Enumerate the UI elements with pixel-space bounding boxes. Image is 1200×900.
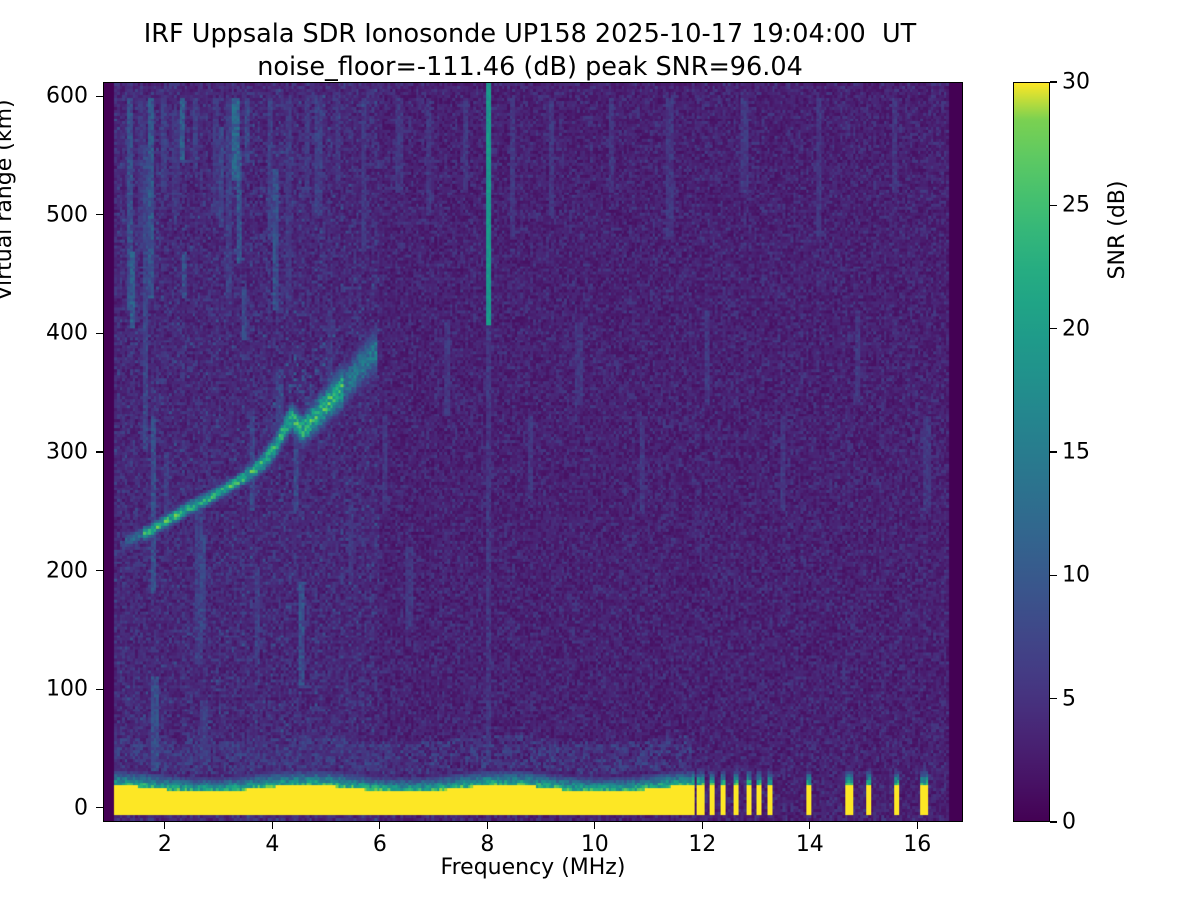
ionogram-figure: IRF Uppsala SDR Ionosonde UP158 2025-10-… xyxy=(0,0,1200,900)
y-tick-mark xyxy=(96,96,103,97)
x-tick-mark xyxy=(164,822,165,829)
colorbar-tick-label-5: 5 xyxy=(1062,686,1076,711)
y-tick-label-300: 300 xyxy=(0,440,88,465)
colorbar-label: SNR (dB) xyxy=(1105,100,1130,360)
y-tick-label-200: 200 xyxy=(0,558,88,583)
x-tick-label-6: 6 xyxy=(373,832,387,857)
colorbar-tick-label-0: 0 xyxy=(1062,810,1076,835)
y-tick-mark xyxy=(96,807,103,808)
x-tick-label-8: 8 xyxy=(480,832,494,857)
colorbar-tick-label-20: 20 xyxy=(1062,316,1090,341)
colorbar-tick-label-15: 15 xyxy=(1062,440,1090,465)
colorbar-tick-label-30: 30 xyxy=(1062,70,1090,95)
y-tick-label-600: 600 xyxy=(0,84,88,109)
y-tick-mark xyxy=(96,451,103,452)
colorbar-tick-mark xyxy=(1050,81,1057,82)
colorbar-tick-mark xyxy=(1050,451,1057,452)
x-tick-mark xyxy=(702,822,703,829)
x-tick-mark xyxy=(379,822,380,829)
y-axis-label: Virtual range (km) xyxy=(0,70,17,330)
x-tick-mark xyxy=(487,822,488,829)
y-tick-mark xyxy=(96,689,103,690)
x-tick-mark xyxy=(917,822,918,829)
colorbar-tick-mark xyxy=(1050,205,1057,206)
x-tick-label-4: 4 xyxy=(265,832,279,857)
ionogram-heatmap xyxy=(104,83,962,821)
y-tick-label-0: 0 xyxy=(0,795,88,820)
colorbar-gradient xyxy=(1014,83,1049,821)
x-tick-label-10: 10 xyxy=(581,832,609,857)
title-line-1: IRF Uppsala SDR Ionosonde UP158 2025-10-… xyxy=(0,18,1060,51)
ionogram-plot-area[interactable] xyxy=(103,82,963,822)
y-tick-label-500: 500 xyxy=(0,202,88,227)
x-axis-label: Frequency (MHz) xyxy=(103,855,963,880)
x-tick-mark xyxy=(809,822,810,829)
y-tick-mark xyxy=(96,214,103,215)
x-tick-mark xyxy=(272,822,273,829)
x-tick-label-16: 16 xyxy=(903,832,931,857)
y-tick-label-400: 400 xyxy=(0,321,88,346)
colorbar[interactable] xyxy=(1013,82,1050,822)
colorbar-tick-label-10: 10 xyxy=(1062,563,1090,588)
y-tick-mark xyxy=(96,570,103,571)
colorbar-tick-mark xyxy=(1050,575,1057,576)
x-tick-label-12: 12 xyxy=(688,832,716,857)
y-tick-label-100: 100 xyxy=(0,677,88,702)
x-tick-label-2: 2 xyxy=(158,832,172,857)
y-tick-mark xyxy=(96,333,103,334)
colorbar-tick-label-25: 25 xyxy=(1062,193,1090,218)
title-line-2: noise_floor=-111.46 (dB) peak SNR=96.04 xyxy=(0,51,1060,84)
colorbar-tick-mark xyxy=(1050,328,1057,329)
figure-title: IRF Uppsala SDR Ionosonde UP158 2025-10-… xyxy=(0,18,1060,84)
x-tick-label-14: 14 xyxy=(796,832,824,857)
colorbar-tick-mark xyxy=(1050,821,1057,822)
colorbar-tick-mark xyxy=(1050,698,1057,699)
x-tick-mark xyxy=(594,822,595,829)
